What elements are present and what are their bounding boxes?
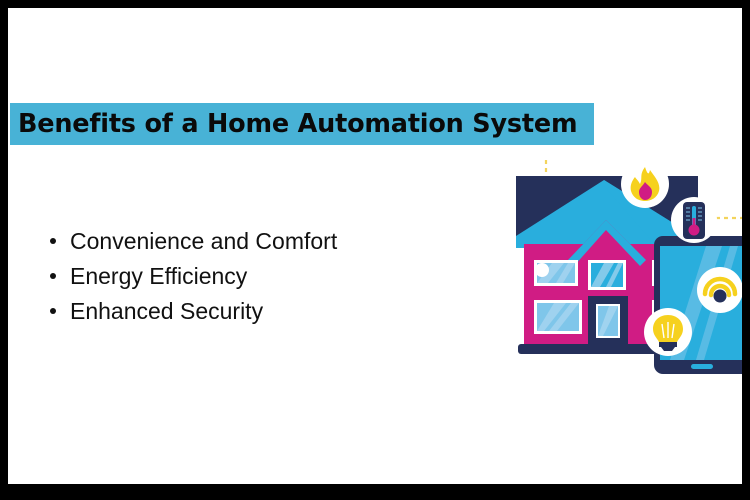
house-window-lower-left: [534, 300, 582, 334]
thermometer-icon-badge: [671, 197, 717, 243]
bullet-dot-icon: [50, 273, 56, 279]
bullet-dot-icon: [50, 308, 56, 314]
list-item-label: Energy Efficiency: [70, 263, 247, 289]
smart-home-automation-illustration: [508, 158, 742, 398]
slide-frame: Benefits of a Home Automation System Con…: [0, 0, 750, 500]
list-item: Energy Efficiency: [70, 259, 337, 294]
page-title: Benefits of a Home Automation System: [18, 104, 592, 144]
benefits-list: Convenience and Comfort Energy Efficienc…: [36, 224, 337, 329]
list-item: Convenience and Comfort: [70, 224, 337, 259]
slide-canvas: Benefits of a Home Automation System Con…: [8, 8, 742, 484]
tablet-home-button: [691, 364, 713, 369]
house-window-upper-left: [534, 260, 578, 286]
list-item-label: Convenience and Comfort: [70, 228, 337, 254]
list-item-label: Enhanced Security: [70, 298, 263, 324]
bullet-dot-icon: [50, 238, 56, 244]
porch-lamp-icon: [535, 263, 549, 277]
lightbulb-icon-badge: [644, 308, 692, 356]
flame-icon-badge: [621, 160, 669, 208]
house-window-centre: [588, 260, 626, 290]
house-door: [588, 296, 628, 348]
wifi-icon-badge: [697, 267, 742, 313]
list-item: Enhanced Security: [70, 294, 337, 329]
